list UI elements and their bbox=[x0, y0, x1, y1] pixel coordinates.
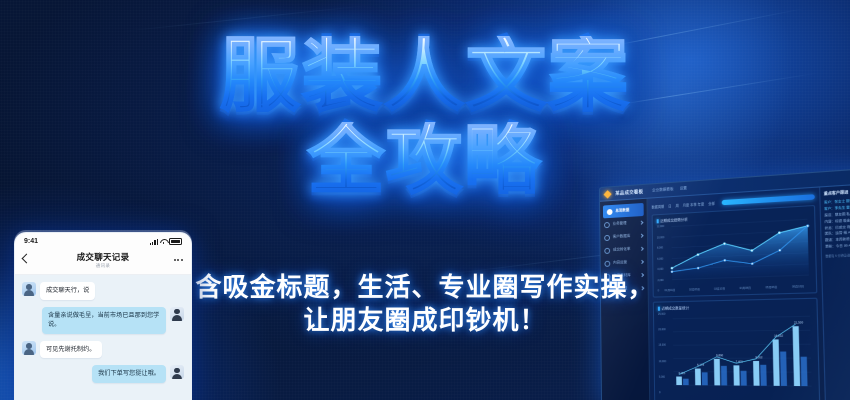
axis-tick: 20,000 bbox=[658, 328, 665, 331]
bar bbox=[702, 372, 708, 385]
chevron-right-icon bbox=[640, 286, 644, 290]
bar bbox=[721, 366, 727, 386]
bar bbox=[760, 365, 766, 386]
sidebar-item-label: 系统设置 bbox=[613, 286, 627, 291]
circle-icon bbox=[605, 273, 611, 279]
chat-message: 可见先谢托制约。 bbox=[22, 341, 184, 359]
circle-icon bbox=[604, 221, 610, 227]
chat-bubble: 我们下单写您挺让哦。 bbox=[92, 365, 166, 383]
axis-tick: 10,000 bbox=[659, 360, 666, 363]
avatar-customer-icon[interactable] bbox=[22, 282, 36, 296]
line-chart-panel: 近期成交趋势分析 12,00010,0008,0006,0004,0002,00… bbox=[652, 205, 818, 298]
line-data-point bbox=[724, 259, 726, 261]
sidebar-item-label: 总览数据 bbox=[615, 208, 629, 214]
chat-subtitle: 通讯录 bbox=[77, 264, 130, 269]
bar bbox=[676, 377, 682, 386]
axis-tick: 12,000 bbox=[657, 225, 664, 228]
line-data-point bbox=[697, 254, 699, 256]
circle-icon bbox=[604, 260, 610, 266]
line-data-point bbox=[723, 242, 725, 244]
chevron-right-icon bbox=[640, 260, 644, 264]
axis-tick: 25,000 bbox=[658, 313, 665, 316]
line-chart-yaxis: 12,00010,0008,0006,0004,0002,0000 bbox=[657, 225, 665, 292]
axis-tick: 02月05日 bbox=[689, 287, 700, 291]
dashboard-main: 数据周期日周月度 本季 年度全部 近期成交趋势分析 12,00010,0008,… bbox=[647, 188, 825, 400]
light-streak bbox=[121, 5, 370, 32]
chevron-right-icon bbox=[640, 247, 644, 251]
bar bbox=[753, 361, 760, 386]
bar bbox=[773, 339, 780, 385]
bar bbox=[733, 365, 739, 385]
axis-tick: 6,000 bbox=[657, 257, 664, 260]
dashboard-sidebar[interactable]: 总览数据业务管理客户数据库成交转化率内容运营文案素材库系统设置 bbox=[600, 199, 650, 400]
grid-icon bbox=[607, 208, 613, 214]
axis-tick: 4,000 bbox=[657, 268, 664, 271]
signal-bars-icon bbox=[150, 239, 158, 245]
avatar-seller-icon[interactable] bbox=[170, 307, 184, 321]
sidebar-item-label: 客户数据库 bbox=[613, 234, 630, 240]
dashboard-right-panel: 重点客户跟进 客户：张女士 服装批发客户：李先生 童装门店渠道：朋友圈 私域成交… bbox=[819, 183, 850, 400]
phone-status-bar: 9:41 bbox=[15, 233, 191, 248]
more-dots-icon[interactable] bbox=[174, 259, 183, 261]
status-icons bbox=[150, 238, 182, 246]
sidebar-item-label: 业务管理 bbox=[613, 221, 627, 227]
axis-tick: 06月12日 bbox=[792, 284, 804, 289]
circle-icon bbox=[604, 234, 610, 240]
chevron-left-icon[interactable] bbox=[22, 254, 32, 264]
bar bbox=[801, 357, 808, 386]
title-line-1: 服装人文案 bbox=[0, 36, 850, 116]
dashboard-nav[interactable]: 企业数据看板设置 bbox=[652, 186, 687, 193]
avatar-customer-icon[interactable] bbox=[22, 341, 36, 355]
axis-tick: 05月06日 bbox=[765, 285, 777, 290]
toolbar-chip[interactable]: 周 bbox=[675, 202, 678, 207]
axis-tick: 0 bbox=[658, 289, 665, 292]
line-chart-svg bbox=[657, 217, 812, 282]
chevron-right-icon bbox=[639, 234, 643, 238]
line-data-point bbox=[779, 249, 781, 251]
bar bbox=[683, 379, 689, 385]
progress-pill bbox=[722, 194, 815, 205]
axis-tick: 8,000 bbox=[657, 246, 664, 249]
right-panel-rows[interactable]: 客户：张女士 服装批发客户：李先生 童装门店渠道：朋友圈 私域成交内容：标题 吸… bbox=[824, 197, 850, 251]
line-data-point bbox=[671, 267, 673, 269]
toolbar-chip[interactable]: 月度 本季 年度 bbox=[683, 201, 704, 207]
axis-tick: 5,000 bbox=[659, 375, 666, 378]
bar bbox=[695, 369, 701, 386]
dashboard-nav-item[interactable]: 企业数据看板 bbox=[652, 187, 674, 194]
bar bbox=[741, 371, 747, 386]
bar-chart-yaxis: 25,00020,00015,00010,0005,0000 bbox=[658, 313, 667, 395]
sidebar-item[interactable]: 系统设置 bbox=[601, 281, 648, 295]
axis-tick: 01月01日 bbox=[664, 288, 675, 292]
axis-tick: 15,000 bbox=[658, 344, 665, 347]
axis-tick: 2,000 bbox=[658, 278, 665, 281]
chat-title: 成交聊天记录 bbox=[77, 253, 130, 262]
line-data-point bbox=[806, 225, 808, 227]
light-streak bbox=[522, 73, 818, 121]
line-data-point bbox=[751, 249, 753, 251]
axis-tick: 0 bbox=[659, 391, 666, 394]
dashboard-body: 总览数据业务管理客户数据库成交转化率内容运营文案素材库系统设置 数据周期日周月度… bbox=[600, 183, 850, 400]
title-block: 服装人文案 全攻略 bbox=[0, 36, 850, 198]
line-chart: 12,00010,0008,0006,0004,0002,0000 01月01日… bbox=[657, 217, 812, 292]
chat-message: 含量亲说做毛呈，当前市场已且那到您学说。 bbox=[22, 307, 184, 334]
right-panel-footer: 数据每 5 分钟自动刷新 bbox=[825, 252, 850, 259]
right-panel-row[interactable]: 更新：今日 09:41 bbox=[825, 242, 850, 251]
bar-chart: 25,00020,00015,00010,0005,0000 3,2156,17… bbox=[658, 310, 814, 396]
nav-titles: 成交聊天记录 通讯录 bbox=[77, 253, 130, 268]
bar bbox=[714, 359, 720, 386]
toolbar-label: 数据周期 bbox=[651, 203, 664, 209]
right-panel-title: 重点客户跟进 bbox=[824, 188, 850, 197]
toolbar-chip[interactable]: 全部 bbox=[708, 200, 715, 206]
analytics-dashboard: 某品成交看板 企业数据看板设置 总览数据业务管理客户数据库成交转化率内容运营文案… bbox=[599, 167, 850, 400]
avatar-seller-icon[interactable] bbox=[170, 365, 184, 379]
diamond-logo-icon bbox=[604, 190, 612, 198]
battery-icon bbox=[169, 238, 182, 246]
axis-tick: 04月08日 bbox=[739, 286, 750, 291]
axis-tick: 10,000 bbox=[657, 236, 664, 239]
light-streak bbox=[473, 8, 807, 74]
line-data-point bbox=[671, 271, 673, 273]
chevron-right-icon bbox=[640, 273, 644, 277]
chat-message: 我们下单写您挺让哦。 bbox=[22, 365, 184, 383]
chat-bubble: 成交聊天行，说 bbox=[40, 282, 95, 300]
chevron-right-icon bbox=[639, 221, 643, 225]
toolbar-chip[interactable]: 日 bbox=[668, 203, 671, 208]
bar-chart-panel: 近期成交数量统计 25,00020,00015,00010,0005,0000 … bbox=[653, 298, 820, 400]
dashboard-brand: 某品成交看板 bbox=[615, 188, 643, 196]
circle-icon bbox=[605, 286, 611, 292]
line-data-point bbox=[697, 267, 699, 269]
chat-message: 成交聊天行，说 bbox=[22, 282, 184, 300]
sidebar-item-label: 内容运营 bbox=[613, 260, 627, 266]
axis-tick: 03月10日 bbox=[714, 286, 725, 291]
wifi-icon bbox=[160, 239, 167, 244]
chat-bubble: 含量亲说做毛呈，当前市场已且那到您学说。 bbox=[42, 307, 166, 334]
bar bbox=[793, 326, 801, 386]
chat-bubble: 可见先谢托制约。 bbox=[40, 341, 102, 359]
phone-nav-bar: 成交聊天记录 通讯录 bbox=[15, 248, 191, 275]
promo-banner: 服装人文案 全攻略 含吸金标题，生活、专业圈写作实操， 让朋友圈成印钞机！ 9:… bbox=[0, 0, 850, 400]
bar bbox=[780, 352, 787, 386]
dashboard-nav-item[interactable]: 设置 bbox=[680, 186, 687, 192]
line-data-point bbox=[778, 232, 780, 234]
sidebar-item-label: 成交转化率 bbox=[613, 247, 630, 253]
bar-chart-svg: 3,2156,1789,8907,4019,01216,83221,500 bbox=[658, 310, 814, 391]
line-chart-xaxis: 01月01日02月05日03月10日04月08日05月06日06月12日 bbox=[658, 284, 812, 293]
status-time: 9:41 bbox=[24, 238, 38, 245]
sidebar-item-label: 文案素材库 bbox=[613, 273, 631, 279]
line-data-point bbox=[751, 263, 753, 265]
phone-mockup: 9:41 成交聊天记录 通讯录 成交聊天行，说含量亲说做毛呈，当前市场已且那到您… bbox=[14, 232, 192, 400]
circle-icon bbox=[604, 247, 610, 253]
chat-message-list[interactable]: 成交聊天行，说含量亲说做毛呈，当前市场已且那到您学说。可见先谢托制约。我们下单写… bbox=[15, 275, 191, 400]
